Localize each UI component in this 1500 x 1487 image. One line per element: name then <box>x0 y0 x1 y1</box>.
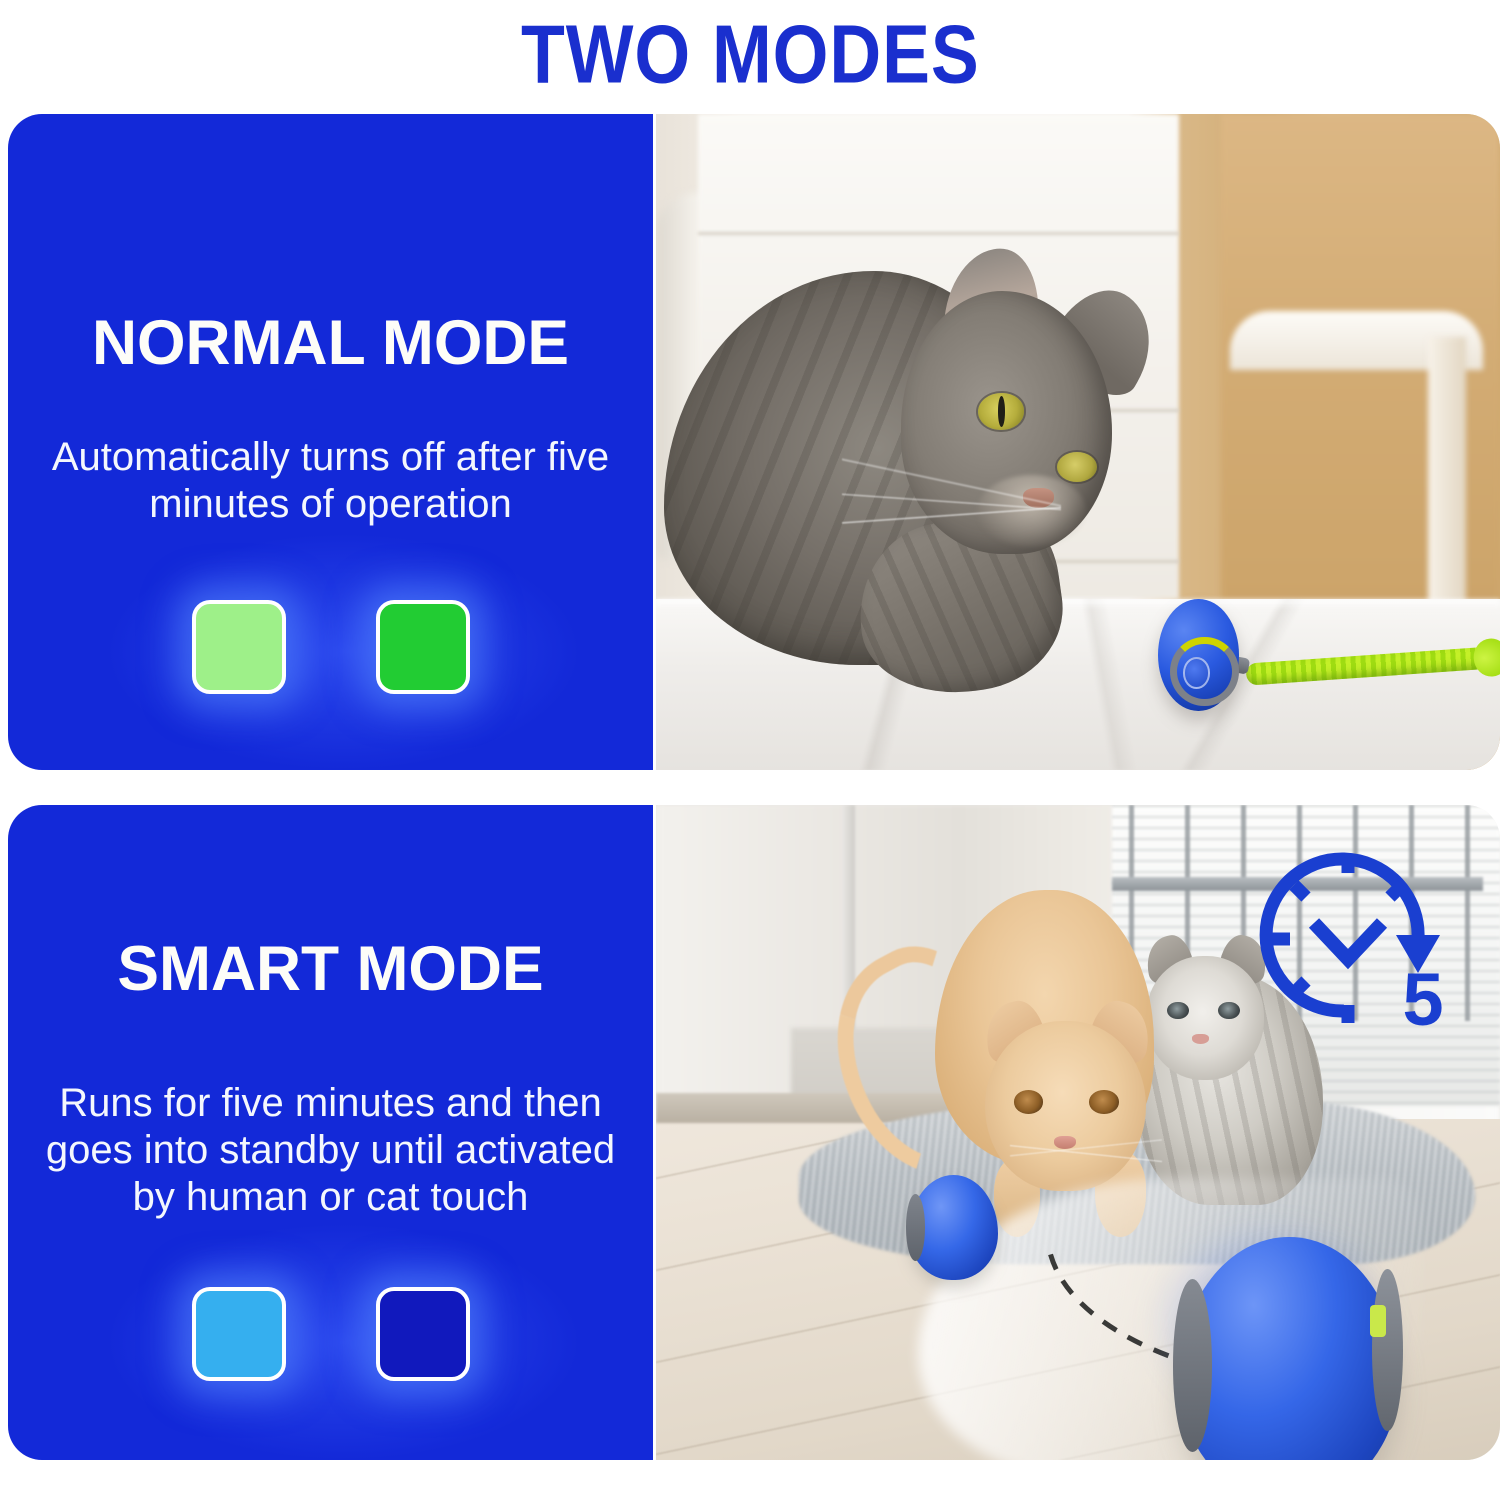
grey-cat-right-eye <box>1057 452 1098 482</box>
ball-side-ring-left <box>1173 1279 1212 1452</box>
mode-card-smart: SMART MODE Runs for five minutes and the… <box>8 805 1500 1460</box>
normal-mode-photo <box>656 114 1500 770</box>
grey-cat-whiskers <box>842 455 1061 573</box>
header: TWO MODES <box>0 0 1500 108</box>
normal-mode-info-panel: NORMAL MODE Automatically turns off afte… <box>8 114 653 770</box>
power-icon <box>1183 657 1210 688</box>
rolling-ball-toy-far <box>909 1175 998 1280</box>
dark-blue-swatch <box>376 1287 470 1381</box>
wall-seam-line <box>698 232 1179 235</box>
five-minute-timer-icon: 5 <box>1248 839 1448 1039</box>
ball-side-ring <box>906 1194 925 1261</box>
bright-green-swatch <box>376 600 470 694</box>
light-green-swatch <box>192 600 286 694</box>
normal-mode-swatch-row <box>34 600 627 694</box>
ball-accent-stripe <box>1370 1305 1385 1336</box>
light-blue-swatch <box>192 1287 286 1381</box>
page-title: TWO MODES <box>521 13 980 96</box>
smart-mode-info-panel: SMART MODE Runs for five minutes and the… <box>8 805 653 1460</box>
grey-cat-left-eye <box>978 393 1024 430</box>
smart-mode-swatch-row <box>34 1287 627 1381</box>
normal-mode-description: Automatically turns off after five minut… <box>34 434 627 528</box>
smart-mode-description: Runs for five minutes and then goes into… <box>34 1080 627 1222</box>
normal-mode-heading: NORMAL MODE <box>37 310 624 376</box>
mode-card-normal: NORMAL MODE Automatically turns off afte… <box>8 114 1500 770</box>
smart-mode-photo: 5 <box>656 805 1500 1460</box>
ball-toy-with-feather-tail <box>1158 599 1276 711</box>
smart-mode-heading: SMART MODE <box>37 936 624 1002</box>
ball-side-ring-right <box>1372 1269 1403 1431</box>
timer-minutes-value: 5 <box>1403 963 1444 1037</box>
